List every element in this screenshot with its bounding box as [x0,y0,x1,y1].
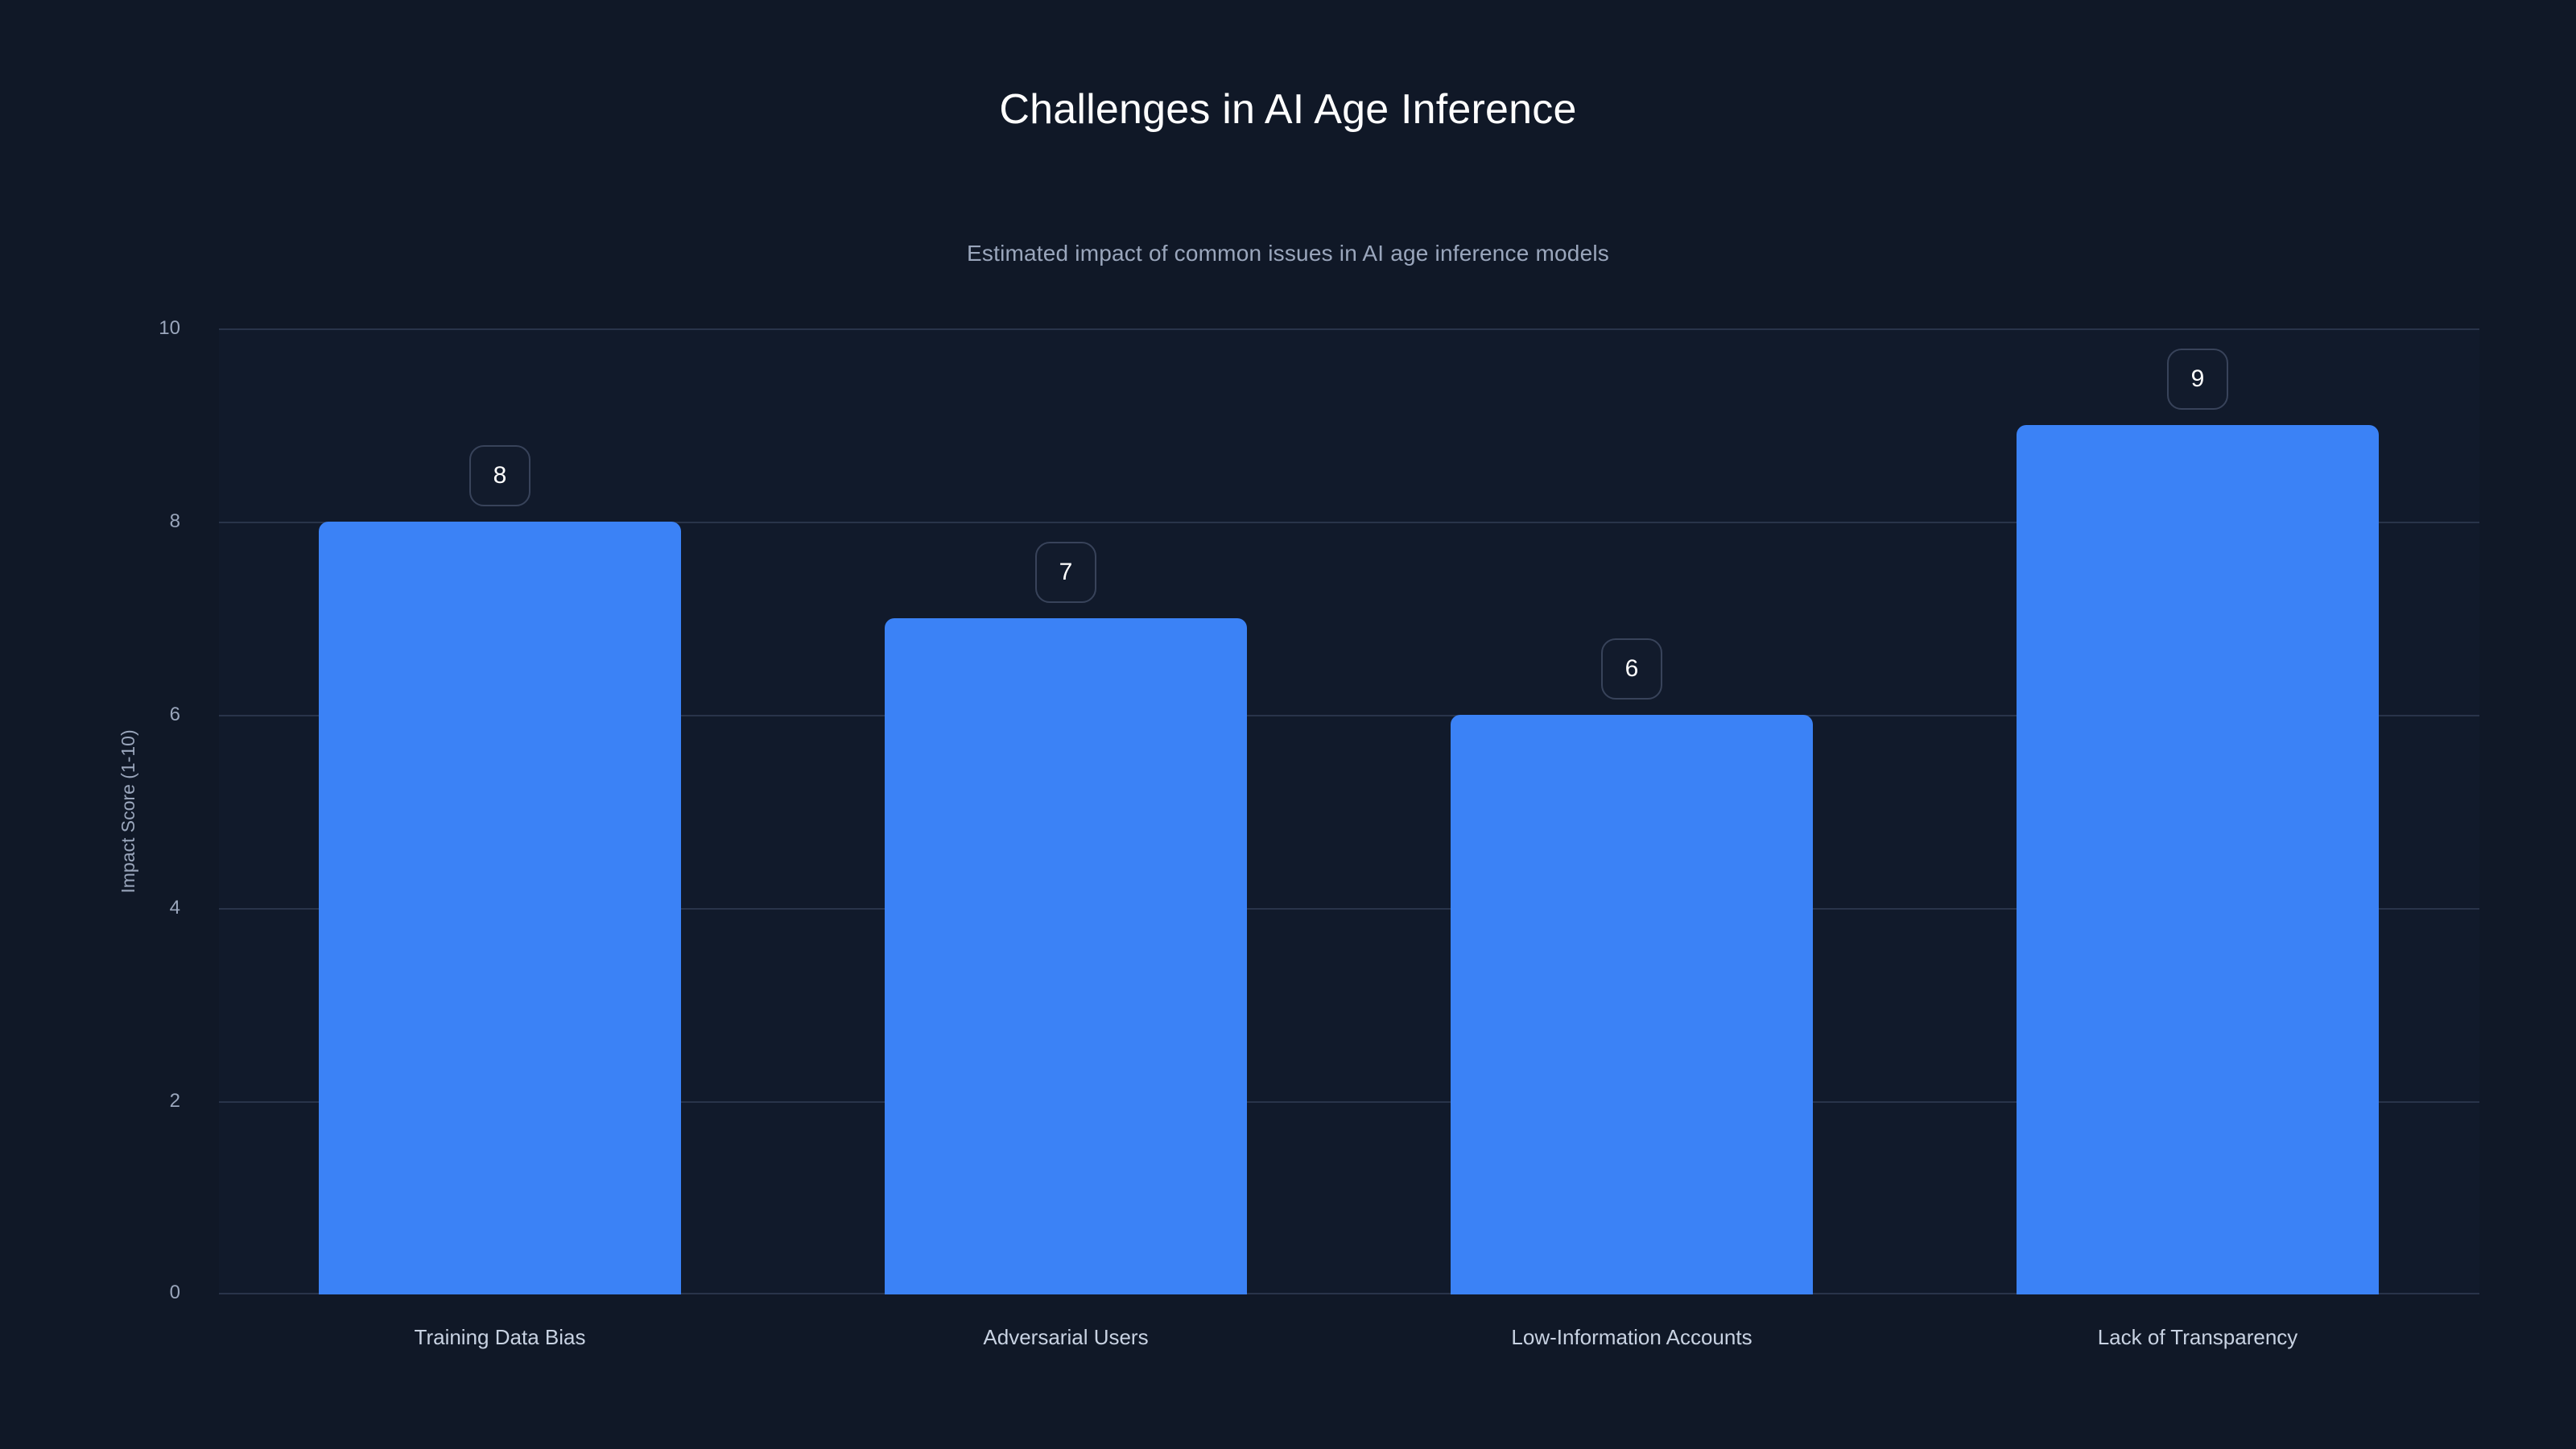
value-badge-adversarial-users: 7 [1035,542,1096,603]
bar-low-information-accounts[interactable] [1451,715,1813,1294]
value-badge-training-data-bias: 8 [469,445,530,506]
bar-chart-figure: Challenges in AI Age Inference Estimated… [0,0,2576,1449]
x-tick-label-low-information-accounts: Low-Information Accounts [1511,1327,1752,1348]
x-tick-label-adversarial-users: Adversarial Users [983,1327,1148,1348]
x-tick-label-lack-of-transparency: Lack of Transparency [2098,1327,2298,1348]
bar-adversarial-users[interactable] [885,618,1247,1294]
value-badge-low-information-accounts: 6 [1601,638,1662,700]
value-badge-lack-of-transparency: 9 [2167,349,2228,410]
bar-lack-of-transparency[interactable] [2017,425,2379,1294]
x-tick-label-training-data-bias: Training Data Bias [415,1327,586,1348]
bars-layer [0,0,2576,1449]
bar-training-data-bias[interactable] [319,522,681,1294]
